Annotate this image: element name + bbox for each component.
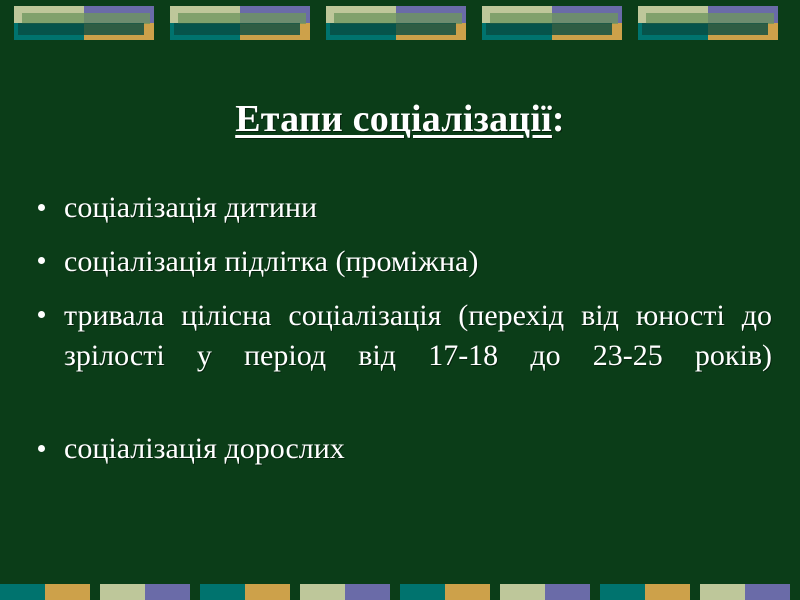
bullet-dot-icon	[38, 204, 45, 211]
list-item-label: тривала цілісна соціалізація (перехід ві…	[64, 296, 772, 416]
slide: Етапи соціалізації: соціалізація дитини …	[0, 0, 800, 600]
list-item-label: соціалізація дитини	[64, 188, 772, 228]
motif-quadrant-gold	[396, 23, 466, 40]
slide-title-colon: :	[552, 98, 565, 140]
bullet-dot-icon	[38, 257, 45, 264]
motif-quadrant-sage	[170, 6, 240, 23]
motif-quadrant-purple	[84, 6, 154, 23]
bullet-list: соціалізація дитини соціалізація підлітк…	[30, 188, 772, 483]
motif-quadrant-teal	[482, 23, 552, 40]
motif-quadrant-gold	[240, 23, 310, 40]
bottom-band-segment	[145, 584, 190, 600]
motif-quadrant-teal	[638, 23, 708, 40]
motif-quadrant-teal	[170, 23, 240, 40]
bullet-dot-icon	[38, 311, 45, 318]
motif-quadrant-purple	[396, 6, 466, 23]
bottom-band-segment	[600, 584, 645, 600]
motif-quadrant-sage	[326, 6, 396, 23]
bottom-band-segment	[745, 584, 790, 600]
motif-quadrant-gold	[552, 23, 622, 40]
list-item: соціалізація підлітка (проміжна)	[30, 242, 772, 282]
motif-quadrant-purple	[708, 6, 778, 23]
bottom-band-segment	[245, 584, 290, 600]
decorative-motif	[326, 6, 466, 40]
top-decorative-band	[0, 0, 800, 46]
bottom-band-segment	[645, 584, 690, 600]
slide-title-underlined: Етапи соціалізації	[235, 98, 552, 140]
motif-quadrant-sage	[638, 6, 708, 23]
bottom-decorative-band	[0, 584, 800, 600]
bottom-band-segment	[445, 584, 490, 600]
bottom-band-segment	[0, 584, 45, 600]
bottom-band-segment	[345, 584, 390, 600]
decorative-motif	[638, 6, 778, 40]
bottom-band-segment	[545, 584, 590, 600]
bottom-band-segment	[500, 584, 545, 600]
list-item-label: соціалізація підлітка (проміжна)	[64, 242, 772, 282]
list-item: соціалізація дитини	[30, 188, 772, 228]
bottom-band-segment	[400, 584, 445, 600]
list-item: тривала цілісна соціалізація (перехід ві…	[30, 296, 772, 416]
bottom-band-segment	[200, 584, 245, 600]
decorative-motif	[482, 6, 622, 40]
motif-quadrant-teal	[14, 23, 84, 40]
list-item: соціалізація дорослих	[30, 429, 772, 469]
decorative-motif	[170, 6, 310, 40]
motif-quadrant-gold	[84, 23, 154, 40]
motif-quadrant-teal	[326, 23, 396, 40]
list-item-label: соціалізація дорослих	[64, 429, 772, 469]
slide-title: Етапи соціалізації:	[0, 99, 800, 141]
decorative-motif	[14, 6, 154, 40]
motif-quadrant-purple	[240, 6, 310, 23]
bottom-band-segment	[300, 584, 345, 600]
motif-quadrant-sage	[482, 6, 552, 23]
motif-quadrant-sage	[14, 6, 84, 23]
motif-quadrant-purple	[552, 6, 622, 23]
motif-quadrant-gold	[708, 23, 778, 40]
bottom-band-segment	[45, 584, 90, 600]
bottom-band-segment	[100, 584, 145, 600]
bullet-dot-icon	[38, 445, 45, 452]
bottom-band-segment	[700, 584, 745, 600]
